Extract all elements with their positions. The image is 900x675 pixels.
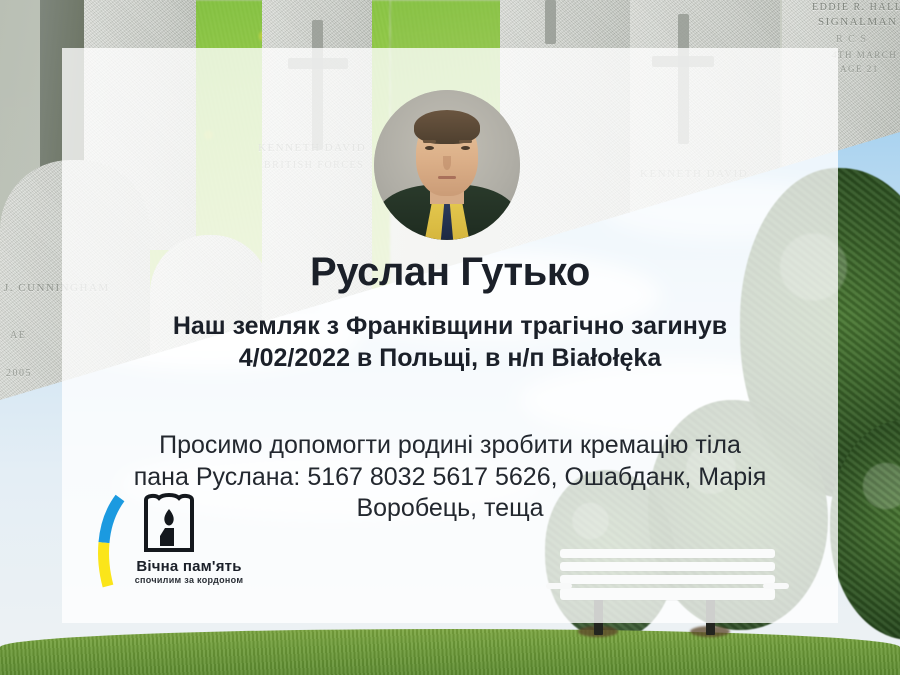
headstone-engraving: R C S — [836, 34, 867, 45]
logo-title: Вічна пам'ять — [116, 558, 262, 575]
headstone-engraving: AGE 21 — [840, 64, 879, 74]
page-title: Руслан Гутько — [0, 250, 900, 295]
headstone-engraving: 2005 — [6, 368, 32, 379]
memorial-lead-text: Наш земляк з Франківщини трагічно загину… — [150, 310, 750, 374]
memorial-card: EDDIE R. HALL SIGNALMAN R C S 4TH MARCH … — [0, 0, 900, 675]
candle-emblem-icon — [142, 492, 196, 554]
logo-subtitle: спочилим за кордоном — [116, 575, 262, 585]
headstone-engraving: EDDIE R. HALL — [812, 2, 900, 13]
organization-logo: Вічна пам'ять спочилим за кордоном — [92, 492, 262, 592]
headstone-engraving: SIGNALMAN — [818, 16, 898, 28]
headstone-engraving: AE — [10, 330, 26, 341]
avatar — [374, 90, 520, 240]
cross-icon — [545, 0, 556, 44]
grass-field — [0, 629, 900, 675]
headstone-engraving: 4TH MARCH 1942 — [832, 50, 900, 60]
